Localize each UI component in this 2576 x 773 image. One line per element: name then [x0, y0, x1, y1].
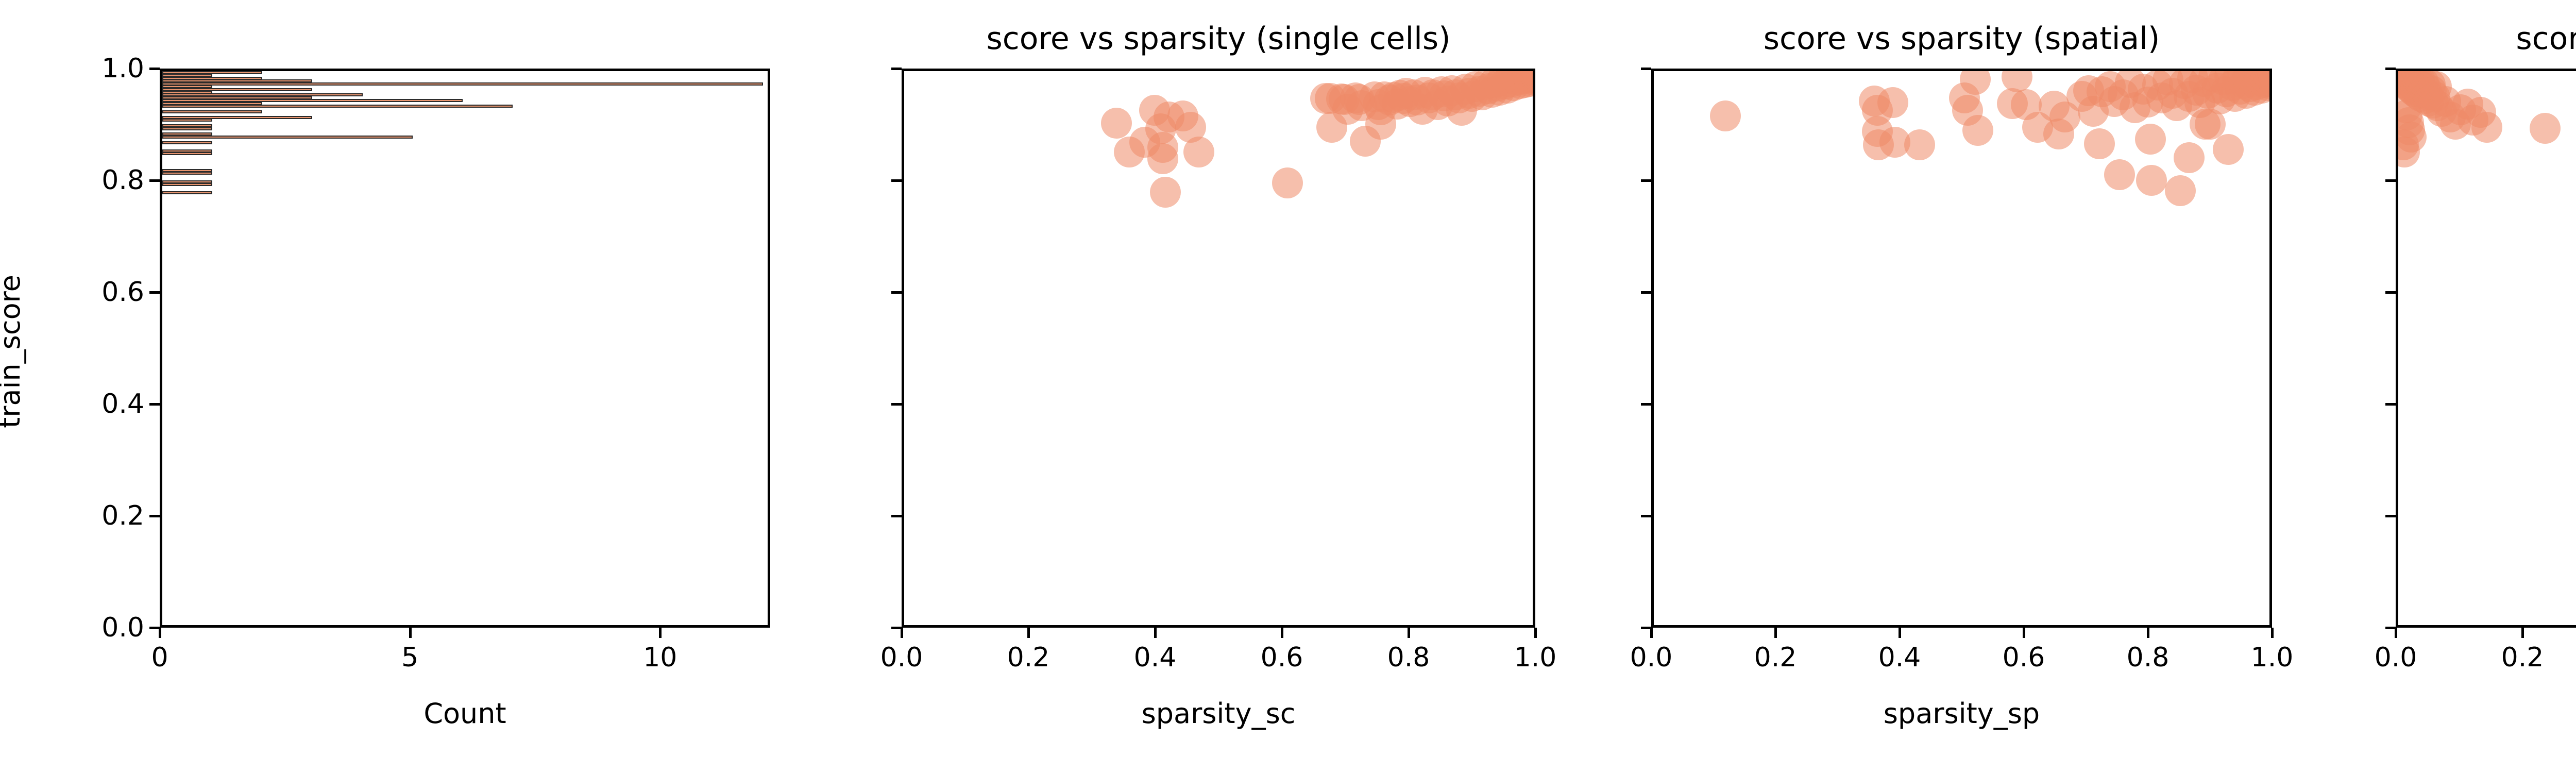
y-tick-mark — [2385, 291, 2396, 294]
panel-scatter-diff: score vs sparsity (sp - sc) 0.00.20.40.6… — [0, 0, 2576, 773]
y-tick-mark — [2385, 68, 2396, 70]
x-tick-label: 0.2 — [2501, 644, 2544, 671]
y-tick-mark — [2385, 627, 2396, 629]
axes-frame-diff — [2396, 69, 2576, 628]
x-tick-mark — [2521, 628, 2524, 638]
x-tick-mark — [2395, 628, 2397, 638]
scatter-point — [2530, 113, 2561, 144]
y-tick-mark — [2385, 179, 2396, 182]
figure-canvas: train_score 0510 0.00.20.40.60.81.0 Coun… — [0, 0, 2576, 773]
x-axis-label-sparsity-diff: sparsity_diff — [2396, 700, 2576, 728]
scatter-plot-area-diff — [2398, 71, 2576, 625]
x-tick-label: 0.0 — [2375, 644, 2417, 671]
scatter-point — [2471, 112, 2502, 143]
y-tick-mark — [2385, 515, 2396, 517]
panel-title-diff: score vs sparsity (sp - sc) — [2396, 23, 2576, 54]
y-tick-mark — [2385, 403, 2396, 406]
